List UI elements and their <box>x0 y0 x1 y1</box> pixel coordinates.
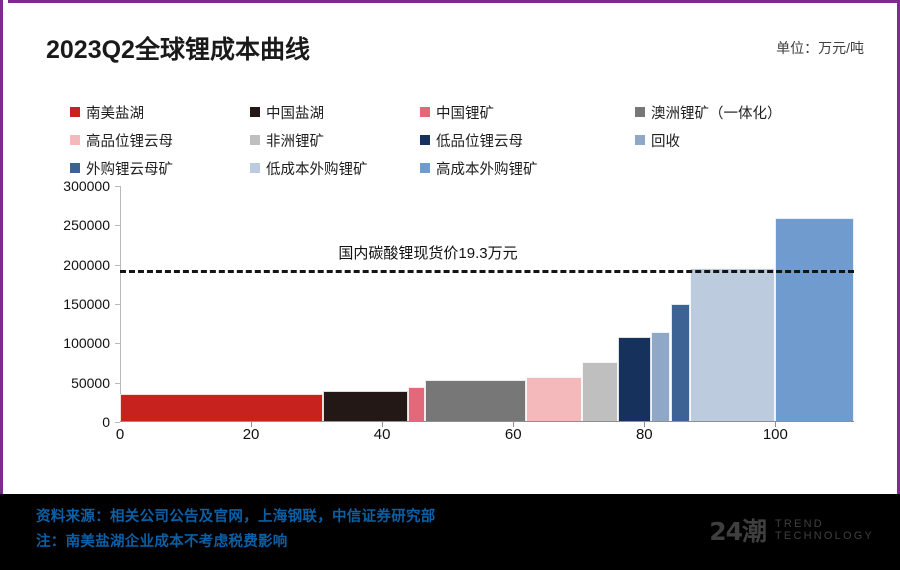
legend-label: 回收 <box>651 130 680 151</box>
legend-swatch-icon <box>635 107 645 117</box>
legend-row: 高品位锂云母非洲锂矿低品位锂云母回收 <box>70 126 870 154</box>
x-axis-tick-label: 40 <box>374 426 391 443</box>
y-axis-tick-label: 250000 <box>63 217 110 233</box>
legend-swatch-icon <box>70 107 80 117</box>
x-axis-tick-label: 0 <box>116 426 124 443</box>
x-axis-tick-label: 20 <box>243 426 260 443</box>
y-axis-tick-label: 300000 <box>63 178 110 194</box>
chart-card: 2023Q2全球锂成本曲线 单位：万元/吨 南美盐湖中国盐湖中国锂矿澳洲锂矿（一… <box>18 10 882 484</box>
bar-segment[interactable] <box>671 304 691 422</box>
legend-label: 高品位锂云母 <box>86 130 173 151</box>
frame-border-left <box>0 0 8 494</box>
axes: 国内碳酸锂现货价19.3万元 <box>120 186 854 422</box>
legend-row: 外购锂云母矿低成本外购锂矿高成本外购锂矿 <box>70 154 870 182</box>
legend-label: 外购锂云母矿 <box>86 158 173 179</box>
frame-border-top <box>0 0 900 3</box>
bar-segment[interactable] <box>582 362 618 422</box>
page-title: 2023Q2全球锂成本曲线 <box>46 30 310 66</box>
legend-row: 南美盐湖中国盐湖中国锂矿澳洲锂矿（一体化） <box>70 98 870 126</box>
bar-segment[interactable] <box>323 391 408 422</box>
legend-swatch-icon <box>250 135 260 145</box>
legend-item[interactable]: 低品位锂云母 <box>420 130 635 151</box>
legend-swatch-icon <box>70 135 80 145</box>
bar-segment[interactable] <box>775 218 854 422</box>
legend-item[interactable]: 回收 <box>635 130 855 151</box>
spot-price-reference-line <box>120 270 854 273</box>
legend-swatch-icon <box>420 107 430 117</box>
y-axis-tick-label: 0 <box>102 414 110 430</box>
y-axis-tick-label: 50000 <box>71 375 110 391</box>
y-axis-tick <box>115 304 120 305</box>
chart-legend: 南美盐湖中国盐湖中国锂矿澳洲锂矿（一体化）高品位锂云母非洲锂矿低品位锂云母回收外… <box>70 98 870 182</box>
legend-label: 高成本外购锂矿 <box>436 158 538 179</box>
legend-swatch-icon <box>70 163 80 173</box>
bar-series <box>120 186 854 422</box>
legend-swatch-icon <box>250 107 260 117</box>
legend-item[interactable]: 南美盐湖 <box>70 102 250 123</box>
legend-label: 非洲锂矿 <box>266 130 324 151</box>
y-axis-tick <box>115 383 120 384</box>
logo-mark: 24潮 <box>709 512 766 548</box>
unit-label: 单位：万元/吨 <box>776 38 864 58</box>
legend-label: 低成本外购锂矿 <box>266 158 368 179</box>
slide-frame: 2023Q2全球锂成本曲线 单位：万元/吨 南美盐湖中国盐湖中国锂矿澳洲锂矿（一… <box>0 0 900 570</box>
legend-item[interactable]: 中国盐湖 <box>250 102 420 123</box>
legend-label: 南美盐湖 <box>86 102 144 123</box>
y-axis-tick <box>115 265 120 266</box>
bar-segment[interactable] <box>408 387 424 422</box>
y-axis-tick <box>115 422 120 423</box>
logo-wordmark: TREND TECHNOLOGY <box>775 518 874 543</box>
y-axis-tick <box>115 225 120 226</box>
legend-swatch-icon <box>420 163 430 173</box>
bar-segment[interactable] <box>425 380 527 422</box>
logo-line-2: TECHNOLOGY <box>775 530 874 542</box>
y-axis-tick-label: 150000 <box>63 296 110 312</box>
legend-swatch-icon <box>420 135 430 145</box>
legend-swatch-icon <box>635 135 645 145</box>
note-text: 注：南美盐湖企业成本不考虑税费影响 <box>36 530 288 551</box>
legend-label: 低品位锂云母 <box>436 130 523 151</box>
plot-area: 050000100000150000200000250000300000 国内碳… <box>46 186 858 456</box>
y-axis-tick <box>115 186 120 187</box>
bar-segment[interactable] <box>526 377 582 422</box>
logo-line-1: TREND <box>775 518 874 530</box>
legend-item[interactable]: 非洲锂矿 <box>250 130 420 151</box>
legend-label: 澳洲锂矿（一体化） <box>651 102 782 123</box>
legend-item[interactable]: 澳洲锂矿（一体化） <box>635 102 855 123</box>
y-axis-labels: 050000100000150000200000250000300000 <box>46 186 116 422</box>
legend-item[interactable]: 低成本外购锂矿 <box>250 158 420 179</box>
legend-item[interactable]: 中国锂矿 <box>420 102 635 123</box>
legend-label: 中国盐湖 <box>266 102 324 123</box>
footer-bar: 资料来源：相关公司公告及官网，上海钢联，中信证券研究部 注：南美盐湖企业成本不考… <box>0 494 900 570</box>
spot-price-annotation-label: 国内碳酸锂现货价19.3万元 <box>338 242 517 263</box>
legend-item[interactable]: 高成本外购锂矿 <box>420 158 635 179</box>
legend-item[interactable]: 外购锂云母矿 <box>70 158 250 179</box>
bar-segment[interactable] <box>651 332 671 422</box>
brand-logo: 24潮 TREND TECHNOLOGY <box>709 512 874 548</box>
x-axis-tick-label: 80 <box>636 426 653 443</box>
x-axis-tick-label: 100 <box>763 426 788 443</box>
x-axis-line <box>120 421 854 422</box>
bar-segment[interactable] <box>120 394 323 422</box>
legend-swatch-icon <box>250 163 260 173</box>
legend-item[interactable]: 高品位锂云母 <box>70 130 250 151</box>
y-axis-tick-label: 200000 <box>63 257 110 273</box>
x-axis-labels: 020406080100 <box>120 426 854 452</box>
y-axis-tick-label: 100000 <box>63 335 110 351</box>
legend-label: 中国锂矿 <box>436 102 494 123</box>
bar-segment[interactable] <box>618 337 651 422</box>
source-text: 资料来源：相关公司公告及官网，上海钢联，中信证券研究部 <box>36 505 436 526</box>
x-axis-tick-label: 60 <box>505 426 522 443</box>
bar-segment[interactable] <box>690 268 775 422</box>
y-axis-tick <box>115 343 120 344</box>
